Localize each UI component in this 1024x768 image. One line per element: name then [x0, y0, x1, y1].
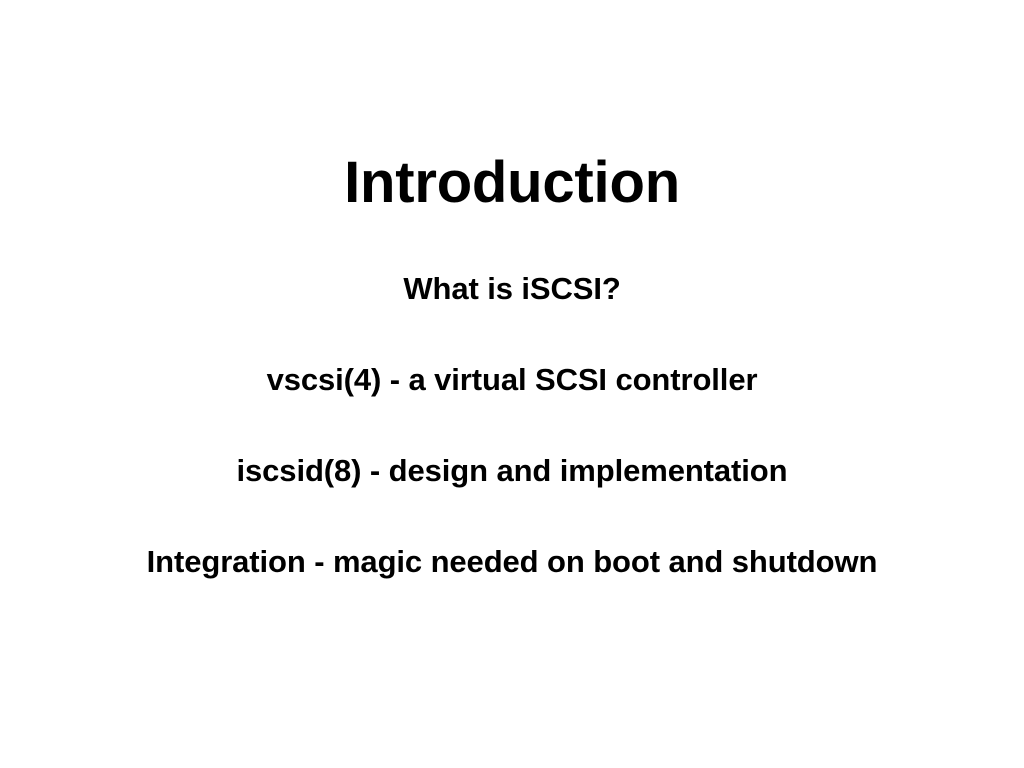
- body-line-integration: Integration - magic needed on boot and s…: [0, 545, 1024, 579]
- presentation-slide: Introduction What is iSCSI? vscsi(4) - a…: [0, 0, 1024, 768]
- slide-body-text-block: What is iSCSI? vscsi(4) - a virtual SCSI…: [0, 272, 1024, 579]
- page-title: Introduction: [0, 152, 1024, 214]
- body-line-iscsid: iscsid(8) - design and implementation: [0, 454, 1024, 488]
- body-line-what-is-iscsi: What is iSCSI?: [0, 272, 1024, 306]
- body-line-vscsi: vscsi(4) - a virtual SCSI controller: [0, 363, 1024, 397]
